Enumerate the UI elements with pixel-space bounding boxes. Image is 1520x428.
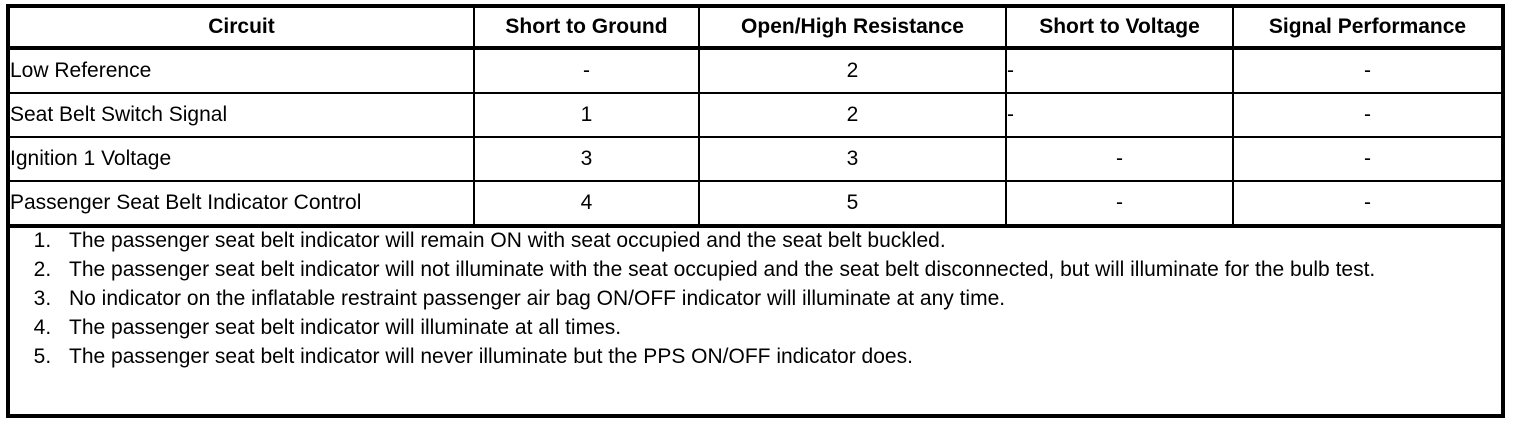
cell-signal-performance: - [1233, 48, 1501, 93]
cell-signal-performance: - [1233, 181, 1501, 226]
cell-short-to-ground: 1 [474, 93, 699, 137]
column-header-open-high-resistance: Open/High Resistance [699, 8, 1006, 48]
cell-open-high-resistance: 2 [699, 93, 1006, 137]
cell-open-high-resistance: 5 [699, 181, 1006, 226]
cell-signal-performance: - [1233, 93, 1501, 137]
column-header-short-to-voltage: Short to Voltage [1006, 8, 1233, 48]
cell-signal-performance: - [1233, 137, 1501, 181]
list-item: The passenger seat belt indicator will n… [57, 257, 1501, 284]
notes-row: The passenger seat belt indicator will r… [10, 226, 1501, 372]
table-row: Seat Belt Switch Signal 1 2 - - [10, 93, 1501, 137]
cell-short-to-voltage: - [1006, 93, 1233, 137]
cell-circuit: Low Reference [10, 48, 474, 93]
notes-section: The passenger seat belt indicator will r… [10, 226, 1501, 372]
cell-open-high-resistance: 2 [699, 48, 1006, 93]
list-item: No indicator on the inflatable restraint… [57, 286, 1501, 313]
cell-circuit: Seat Belt Switch Signal [10, 93, 474, 137]
circuit-fault-table: Circuit Short to Ground Open/High Resist… [10, 8, 1501, 372]
cell-short-to-ground: 4 [474, 181, 699, 226]
notes-list: The passenger seat belt indicator will r… [10, 228, 1501, 370]
cell-short-to-voltage: - [1006, 48, 1233, 93]
cell-circuit: Ignition 1 Voltage [10, 137, 474, 181]
cell-open-high-resistance: 3 [699, 137, 1006, 181]
diagnostic-fault-table: Circuit Short to Ground Open/High Resist… [6, 4, 1505, 418]
table-body: Low Reference - 2 - - Seat Belt Switch S… [10, 48, 1501, 372]
table-row: Low Reference - 2 - - [10, 48, 1501, 93]
list-item: The passenger seat belt indicator will n… [57, 344, 1501, 371]
cell-short-to-ground: - [474, 48, 699, 93]
cell-short-to-voltage: - [1006, 181, 1233, 226]
table-header-row: Circuit Short to Ground Open/High Resist… [10, 8, 1501, 48]
list-item: The passenger seat belt indicator will r… [57, 228, 1501, 255]
table-header: Circuit Short to Ground Open/High Resist… [10, 8, 1501, 48]
table-row: Ignition 1 Voltage 3 3 - - [10, 137, 1501, 181]
table-row: Passenger Seat Belt Indicator Control 4 … [10, 181, 1501, 226]
column-header-circuit: Circuit [10, 8, 474, 48]
list-item: The passenger seat belt indicator will i… [57, 315, 1501, 342]
column-header-signal-performance: Signal Performance [1233, 8, 1501, 48]
column-header-short-to-ground: Short to Ground [474, 8, 699, 48]
cell-short-to-voltage: - [1006, 137, 1233, 181]
cell-short-to-ground: 3 [474, 137, 699, 181]
cell-circuit: Passenger Seat Belt Indicator Control [10, 181, 474, 226]
